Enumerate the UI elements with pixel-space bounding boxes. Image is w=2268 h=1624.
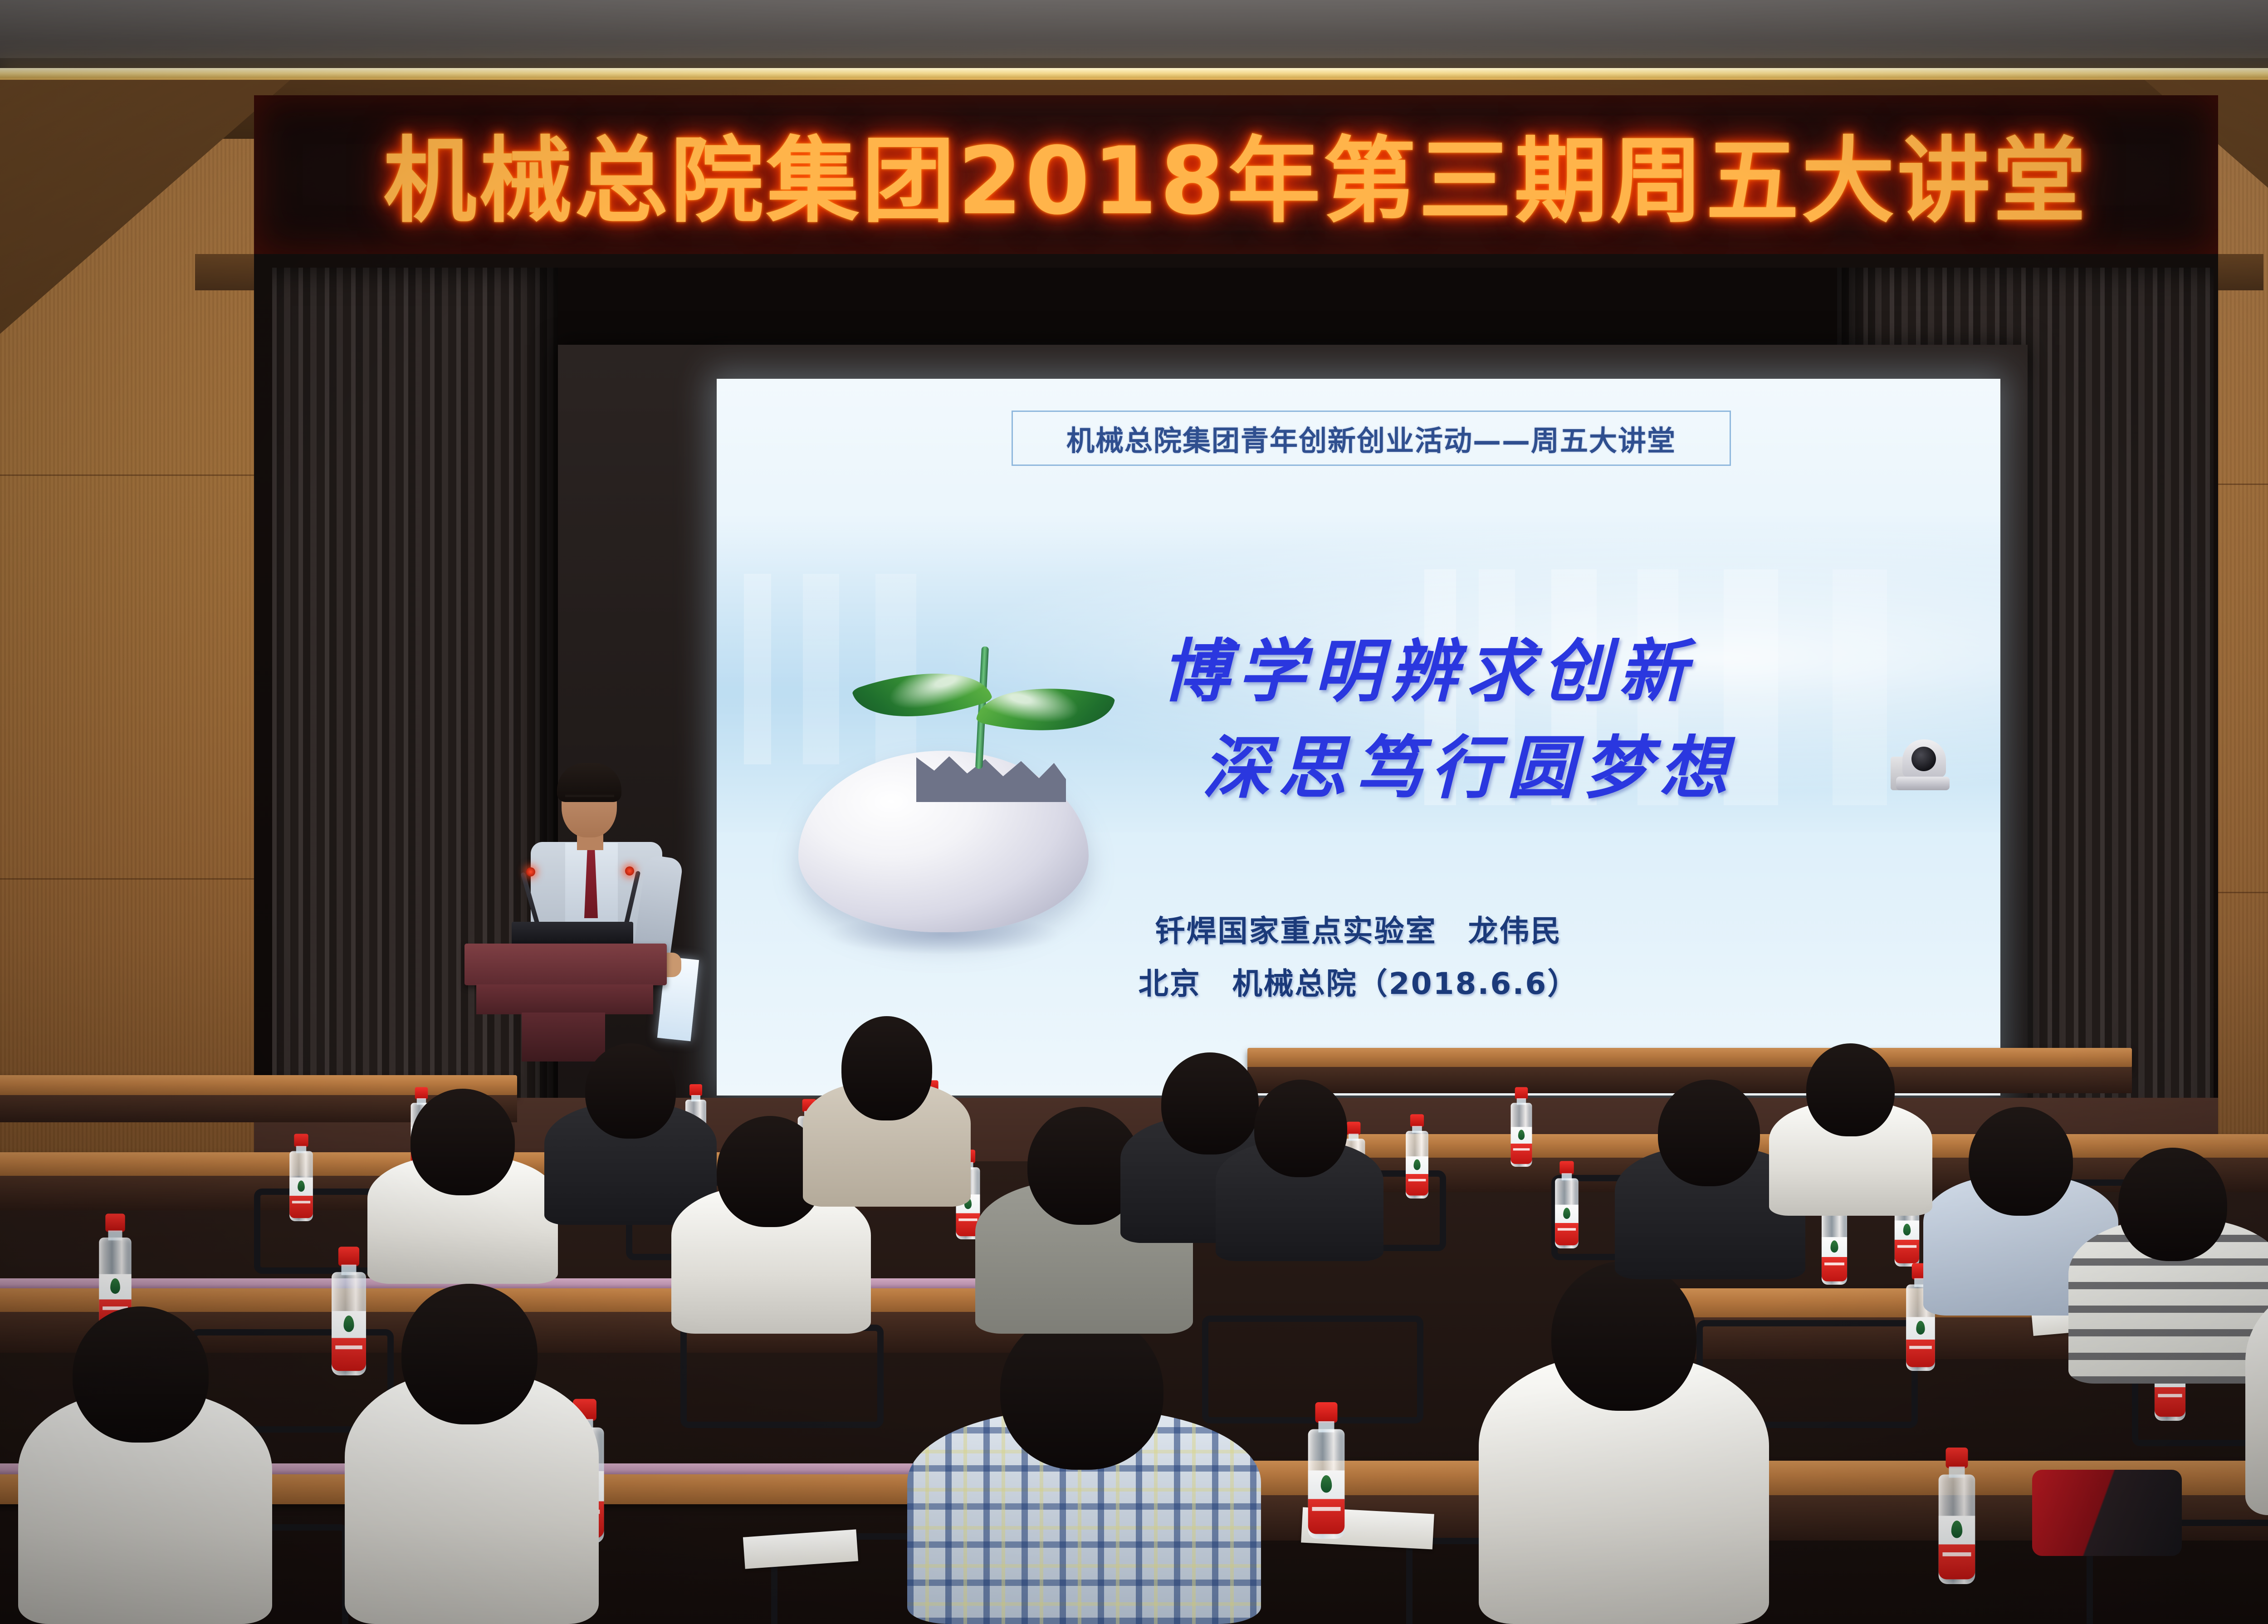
slide-title-line1: 博学明辨求创新 [1161,624,1960,720]
egg-sprout-graphic [771,615,1125,950]
slide-header-box: 机械总院集团青年创新创业活动——周五大讲堂 [1012,411,1731,466]
person-head [411,1089,515,1195]
desk-row [1247,1048,2132,1068]
sprout-leaf-right [976,670,1115,749]
podium-body [476,984,653,1014]
water-bottle [1307,1402,1345,1539]
bottle-leaf-icon [1321,1475,1332,1493]
bottle-label-red [2155,1387,2185,1417]
microphone-led-right [625,866,634,876]
audience-person [18,1306,272,1624]
bottle-cap [1410,1114,1424,1127]
projection-screen: 机械总院集团青年创新创业活动——周五大讲堂 博学明辨求创新 深思笃行圆梦想 钎焊… [717,379,2000,1096]
person-head [2118,1148,2227,1261]
water-bottle [1554,1161,1579,1248]
bottle-label-red [1555,1223,1579,1245]
bottle-leaf-icon [1413,1159,1420,1170]
camera-lens [1911,747,1936,771]
camera-base [1896,777,1950,790]
led-banner: 机械总院集团2018年第三期周五大讲堂 [254,95,2218,254]
bottle-label-red [1822,1257,1847,1282]
bottle-leaf-icon [110,1278,120,1294]
chair[interactable] [680,1325,884,1428]
bottle-label-red [1308,1499,1345,1534]
bottle-cap [1515,1087,1528,1100]
slide-footer: 钎焊国家重点实验室 龙伟民 北京 机械总院（2018.6.6） [717,905,2000,1010]
podium-area [458,735,739,1061]
bottle-label-red [1406,1174,1428,1196]
audience-person [1216,1080,1383,1261]
audience-area [0,1161,2268,1624]
bottle-leaf-icon [1903,1224,1911,1236]
water-bottle [289,1134,313,1221]
bottle-leaf-icon [298,1180,305,1192]
bottle-leaf-icon [1951,1521,1963,1538]
led-banner-text: 机械总院集团2018年第三期周五大讲堂 [254,95,2218,252]
bottle-cap [338,1247,359,1266]
slide-title: 博学明辨求创新 深思笃行圆梦想 [1161,624,1960,817]
audience-person [345,1284,599,1624]
bottle-cap [1946,1448,1968,1468]
person-torso [2245,1282,2268,1515]
audience-person [1479,1261,1769,1624]
bottle-cap [105,1213,125,1232]
bottle-label-red [1906,1340,1935,1367]
person-head [841,1016,932,1120]
bottle-label-red [1511,1144,1532,1164]
bottle-cap [1559,1161,1574,1174]
bottle-cap [294,1134,308,1147]
bottle-cap [1315,1402,1338,1423]
person-head [73,1306,209,1443]
person-head [401,1284,538,1424]
bottle-leaf-icon [1518,1130,1525,1140]
lecture-hall-scene: 机械总院集团2018年第三期周五大讲堂 机械总院集团青年创新创业活动——周五大讲… [0,0,2268,1624]
person-head [585,1043,676,1139]
audience-person [367,1089,558,1284]
person-head [1254,1080,1347,1177]
audience-person [2245,1207,2268,1515]
bottle-label-red [1939,1545,1975,1580]
person-head [1969,1107,2073,1216]
person-head [1000,1311,1163,1470]
bottle-label-red [289,1196,313,1218]
bottle-leaf-icon [1916,1321,1925,1335]
water-bottle [1405,1114,1429,1198]
audience-person [1769,1043,1932,1216]
cove-light-strip [0,68,2268,80]
person-head [1551,1261,1696,1411]
slide-footer-line2: 北京 机械总院（2018.6.6） [717,958,2000,1010]
water-bottle [1510,1087,1533,1167]
slide-title-line2: 深思笃行圆梦想 [1161,720,1960,817]
slide-footer-line1: 钎焊国家重点实验室 龙伟民 [717,905,2000,958]
audience-person [803,1016,971,1207]
bottle-leaf-icon [1830,1240,1838,1252]
person-head [1658,1080,1760,1186]
bottle-label-red [1895,1240,1919,1263]
ptz-camera-icon [1891,739,1950,793]
person-head [1806,1043,1895,1136]
water-bottle [1938,1448,1976,1584]
sprout-leaf-left [851,649,993,741]
backpack-red [2032,1470,2182,1556]
bottle-leaf-icon [1563,1208,1570,1219]
slide-header-text: 机械总院集团青年创新创业活动——周五大讲堂 [1066,418,1676,459]
microphone-led-left [526,867,535,876]
audience-person [2068,1148,2268,1384]
audience-person [907,1311,1261,1624]
podium-top [464,944,667,985]
glasses-icon [565,795,614,806]
